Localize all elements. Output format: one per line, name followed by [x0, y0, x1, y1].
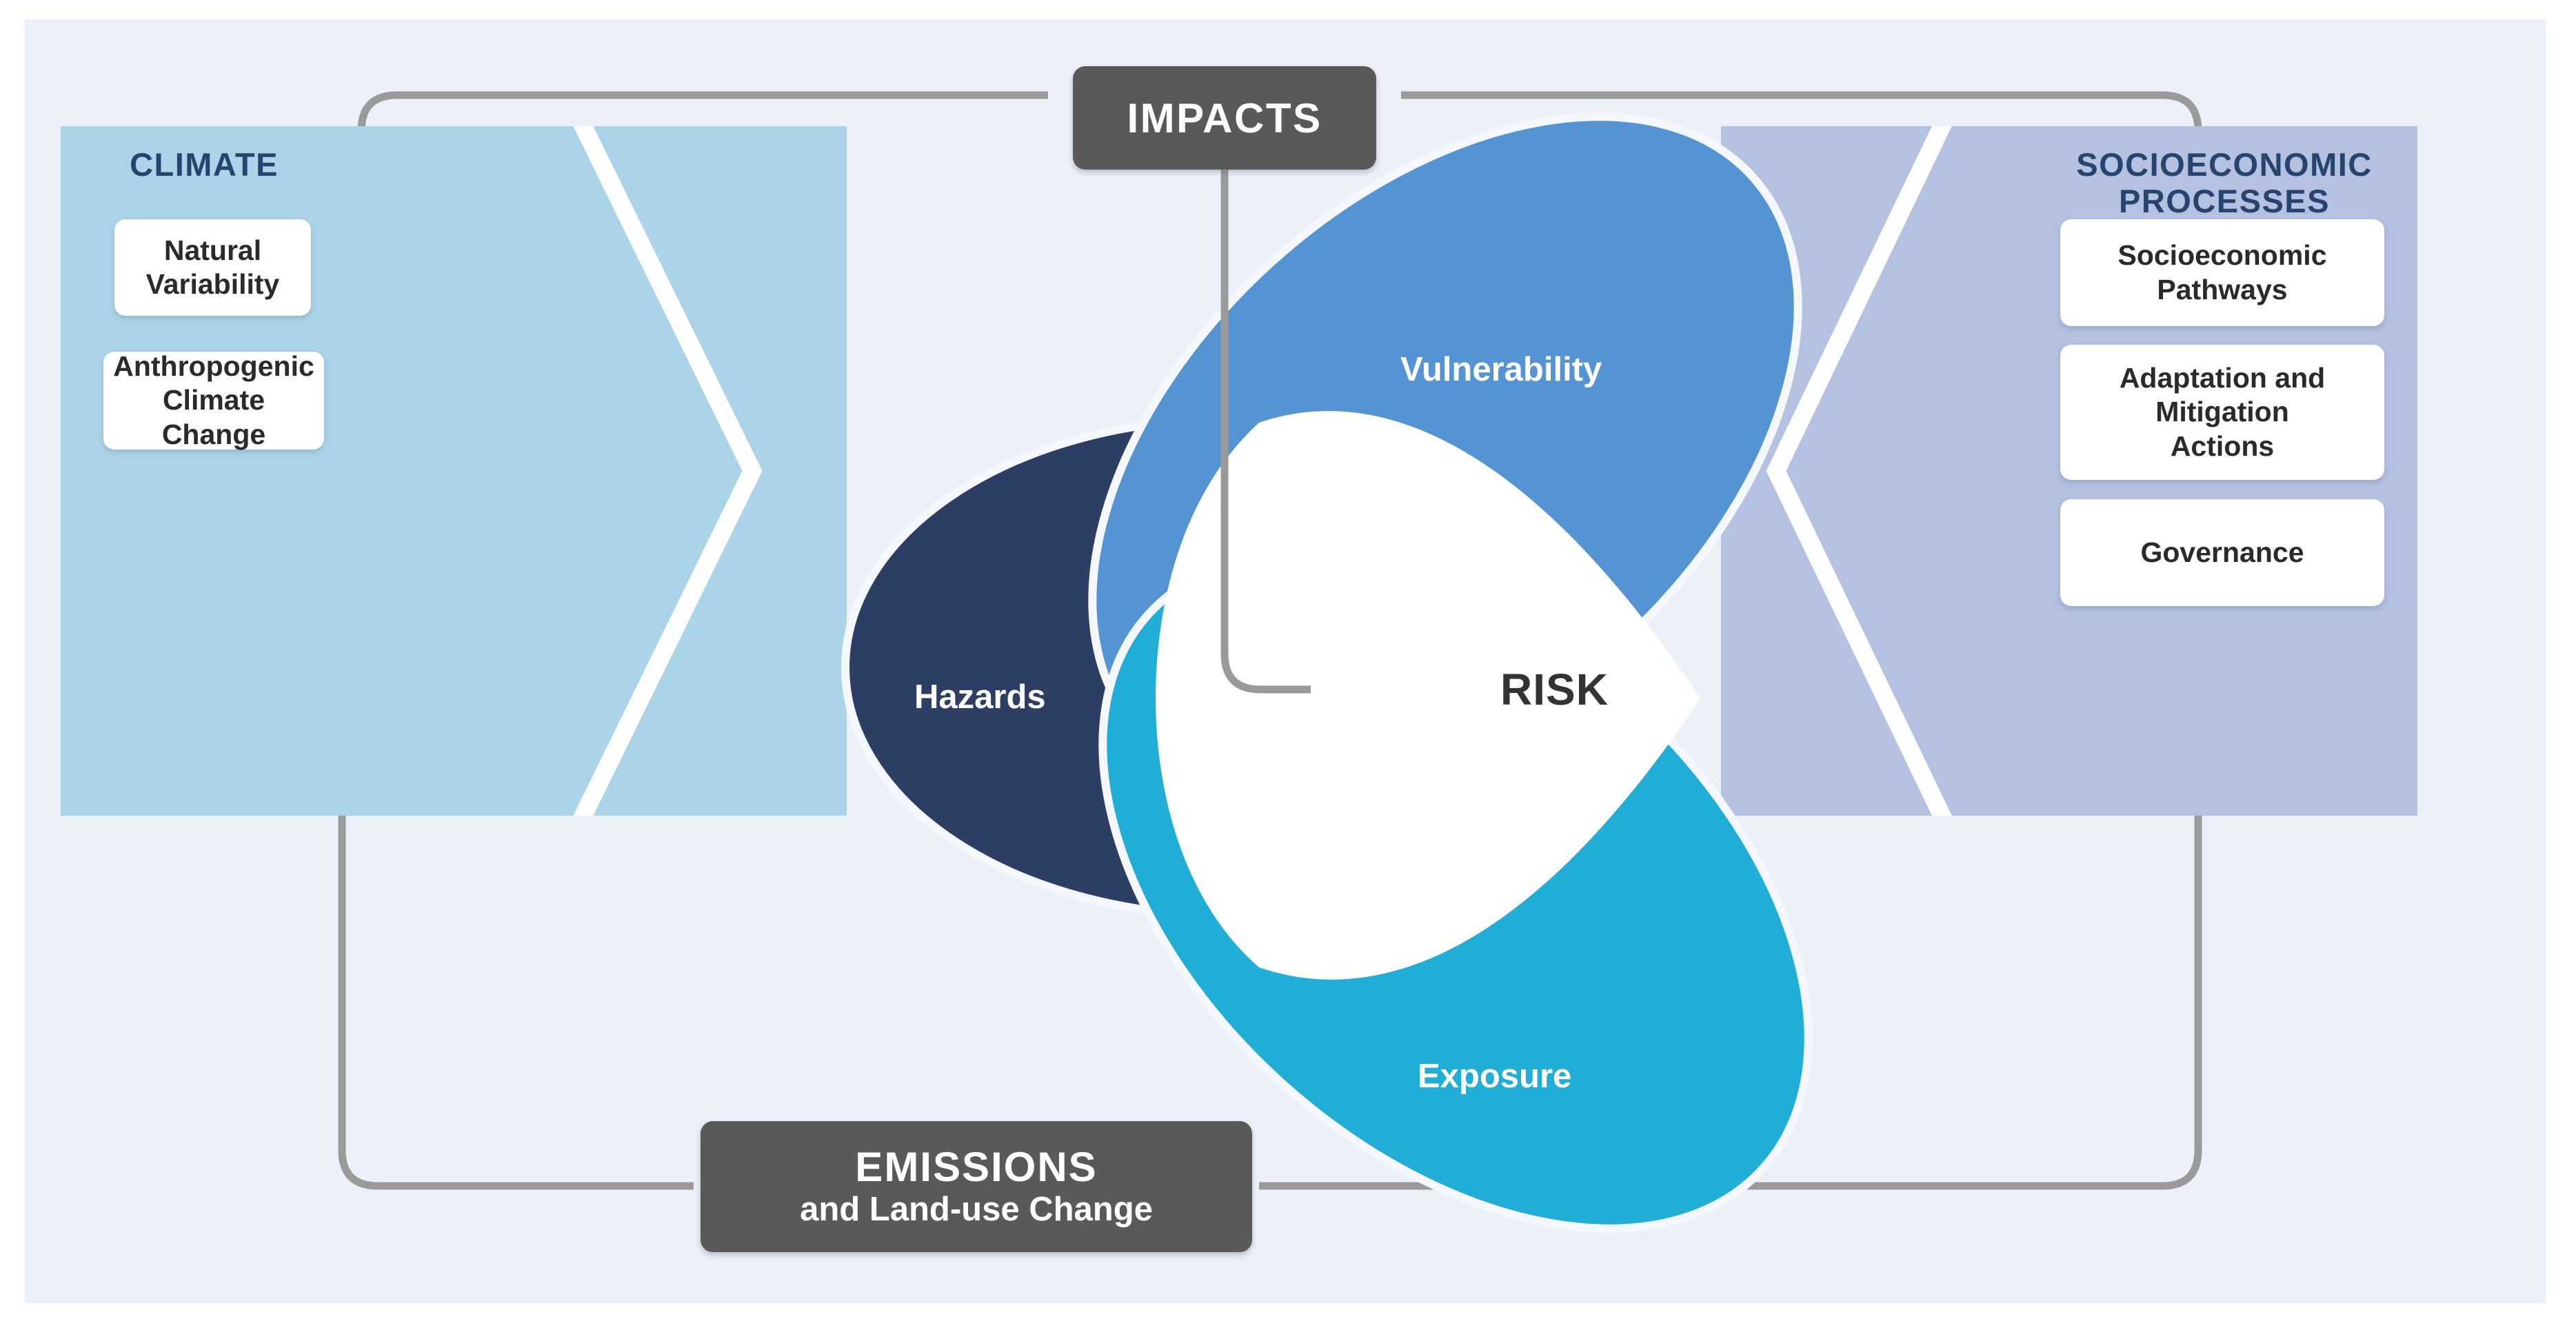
climate-item-anthropogenic-climate-change[interactable]: Anthropogenic Climate Change — [103, 352, 324, 450]
venn-label-vulnerability: Vulnerability — [1400, 350, 1602, 389]
socioeconomic-item-pathways[interactable]: Socioeconomic Pathways — [2060, 219, 2384, 326]
impacts-box[interactable]: IMPACTS — [1073, 66, 1376, 170]
emissions-box[interactable]: EMISSIONS and Land-use Change — [701, 1121, 1252, 1252]
emissions-box-label-line1: EMISSIONS — [855, 1145, 1097, 1189]
venn-label-hazards: Hazards — [914, 678, 1046, 716]
emissions-box-label-line2: and Land-use Change — [800, 1191, 1153, 1229]
impacts-box-label: IMPACTS — [1127, 94, 1322, 142]
venn-label-risk: RISK — [1500, 664, 1609, 715]
climate-item-natural-variability[interactable]: Natural Variability — [114, 219, 311, 316]
socioeconomic-item-adaptation-mitigation[interactable]: Adaptation and Mitigation Actions — [2060, 345, 2384, 480]
climate-panel-heading: CLIMATE — [94, 147, 314, 183]
risk-framework-figure: CLIMATE SOCIOECONOMIC PROCESSES Natural … — [25, 19, 2546, 1303]
socioeconomic-panel-heading: SOCIOECONOMIC PROCESSES — [2038, 147, 2411, 219]
socioeconomic-item-governance[interactable]: Governance — [2060, 499, 2384, 606]
venn-label-exposure: Exposure — [1418, 1057, 1571, 1096]
connector-emissions-to-climate — [342, 764, 694, 1186]
